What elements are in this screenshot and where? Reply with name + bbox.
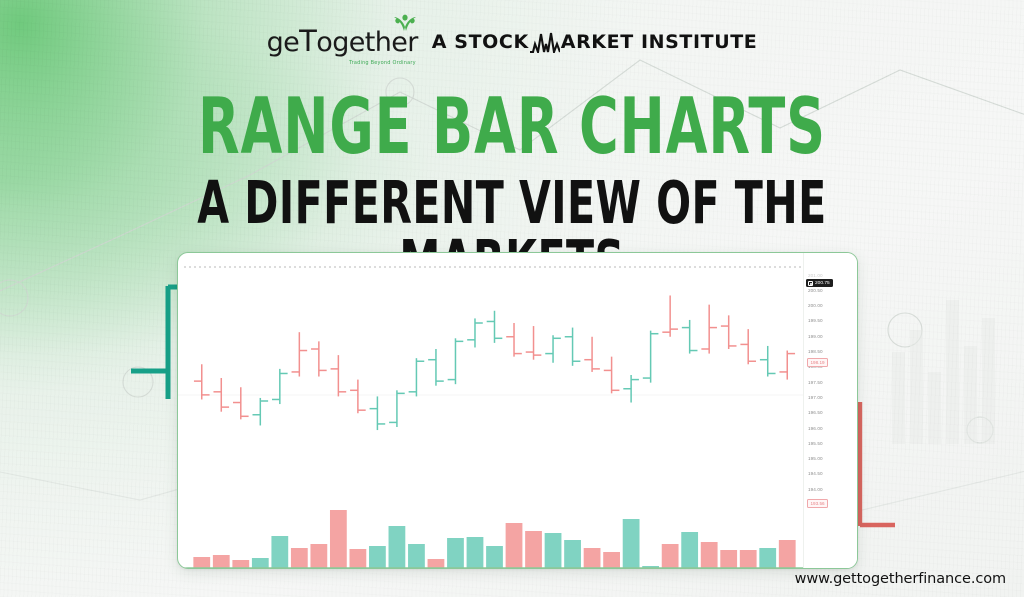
poster-canvas: geTogether Trading Beyond Ordinary A STO… xyxy=(0,0,1024,597)
settings-dot-icon xyxy=(808,281,813,286)
ohlc-bar xyxy=(331,355,347,396)
axis-tick-label: 194.50 xyxy=(808,471,823,476)
price-plot[interactable] xyxy=(178,253,805,569)
ohlc-bar xyxy=(760,346,776,377)
heartbeat-m-icon xyxy=(530,31,560,53)
ohlc-bar xyxy=(467,318,483,347)
ohlc-bar xyxy=(740,329,756,364)
volume-bar xyxy=(584,548,601,568)
volume-bar xyxy=(720,550,737,568)
volume-bar xyxy=(623,519,640,568)
volume-bar xyxy=(291,548,308,568)
axis-tick-label: 195.50 xyxy=(808,441,823,446)
axis-tick-label: 200.00 xyxy=(808,303,823,308)
volume-bar xyxy=(564,540,581,568)
ohlc-bar xyxy=(253,398,269,426)
price-flag-upper[interactable]: 198.19 xyxy=(807,358,828,367)
footer-url[interactable]: www.gettogetherfinance.com xyxy=(795,571,1006,587)
ohlc-bar xyxy=(545,335,561,363)
volume-bar xyxy=(681,532,698,568)
volume-bar xyxy=(701,542,718,568)
logo-wordmark: geTogether Trading Beyond Ordinary xyxy=(267,27,418,56)
institute-text-post: ARKET INSTITUTE xyxy=(561,31,758,53)
axis-tick-label: 197.00 xyxy=(808,395,823,400)
volume-bar xyxy=(740,550,757,568)
ohlc-bar xyxy=(428,349,444,386)
logo-text-pre: ge xyxy=(267,27,300,58)
ohlc-bar xyxy=(506,323,522,357)
ohlc-series xyxy=(194,295,795,430)
volume-bar xyxy=(330,510,347,568)
axis-tick-label: 195.00 xyxy=(808,456,823,461)
logo-text-cap: T xyxy=(299,24,316,58)
axis-tick-label: 197.50 xyxy=(808,380,823,385)
volume-bar xyxy=(252,558,269,568)
institute-wordmark: A STOCK ARKET INSTITUTE xyxy=(432,31,758,53)
institute-text-pre: A STOCK xyxy=(432,31,529,53)
ohlc-bar xyxy=(272,369,288,404)
logo-tagline: Trading Beyond Ordinary xyxy=(349,61,416,66)
volume-bar xyxy=(193,557,210,568)
axis-tick-label: 201.00 xyxy=(808,273,823,278)
volume-bar xyxy=(759,548,776,568)
ohlc-bar xyxy=(194,364,210,399)
volume-bar xyxy=(486,546,503,568)
ohlc-bar xyxy=(350,380,366,414)
volume-bar xyxy=(545,533,562,568)
ohlc-bar xyxy=(311,341,327,376)
ohlc-bar xyxy=(779,351,795,380)
volume-bar xyxy=(779,540,796,568)
last-price-badge[interactable]: 200.75 xyxy=(806,279,833,287)
logo-text-post: ogether xyxy=(316,27,417,58)
ohlc-bar xyxy=(682,320,698,354)
ohlc-bar xyxy=(409,358,425,396)
volume-series xyxy=(193,510,795,568)
volume-bar xyxy=(369,546,386,568)
volume-bar xyxy=(428,559,445,568)
volume-bar xyxy=(232,560,249,568)
volume-bar xyxy=(525,531,542,568)
sprout-icon xyxy=(390,14,420,31)
volume-bar xyxy=(447,538,464,568)
ohlc-bar xyxy=(623,375,639,403)
volume-bar xyxy=(271,536,288,568)
chart-panel[interactable]: 201.00200.50200.00199.50199.00198.50198.… xyxy=(177,252,858,569)
price-axis[interactable]: 201.00200.50200.00199.50199.00198.50198.… xyxy=(803,253,857,569)
brand-header: geTogether Trading Beyond Ordinary A STO… xyxy=(0,27,1024,56)
ohlc-bar xyxy=(604,357,620,394)
volume-bar xyxy=(662,544,679,568)
ohlc-bar xyxy=(370,396,386,430)
price-flag-lower[interactable]: 193.56 xyxy=(807,499,828,508)
axis-tick-label: 196.00 xyxy=(808,426,823,431)
ohlc-bar xyxy=(721,315,737,349)
volume-bar xyxy=(213,555,230,568)
ohlc-bar xyxy=(448,338,464,384)
axis-tick-label: 199.50 xyxy=(808,318,823,323)
axis-tick-label: 194.00 xyxy=(808,487,823,492)
axis-tick-label: 200.50 xyxy=(808,288,823,293)
volume-bar xyxy=(389,526,406,568)
volume-bar xyxy=(408,544,425,568)
axis-tick-label: 198.50 xyxy=(808,349,823,354)
volume-bar xyxy=(603,552,620,568)
volume-bar xyxy=(467,537,484,568)
ohlc-bar xyxy=(584,337,600,372)
volume-bar xyxy=(349,549,366,568)
axis-tick-label: 196.50 xyxy=(808,410,823,415)
ohlc-bar xyxy=(487,311,503,343)
ohlc-bar xyxy=(643,331,659,383)
ohlc-bar xyxy=(389,390,405,427)
ohlc-bar xyxy=(662,295,678,336)
ohlc-bar xyxy=(233,387,249,419)
ohlc-bar xyxy=(526,326,542,360)
volume-bar xyxy=(506,523,523,568)
ohlc-bar xyxy=(565,328,581,366)
last-price-value: 200.75 xyxy=(815,281,830,286)
page-title: RANGE BAR CHARTS xyxy=(92,88,932,166)
ohlc-bar xyxy=(701,305,717,354)
volume-bar xyxy=(310,544,327,568)
axis-tick-label: 199.00 xyxy=(808,334,823,339)
ohlc-bar xyxy=(292,332,308,376)
